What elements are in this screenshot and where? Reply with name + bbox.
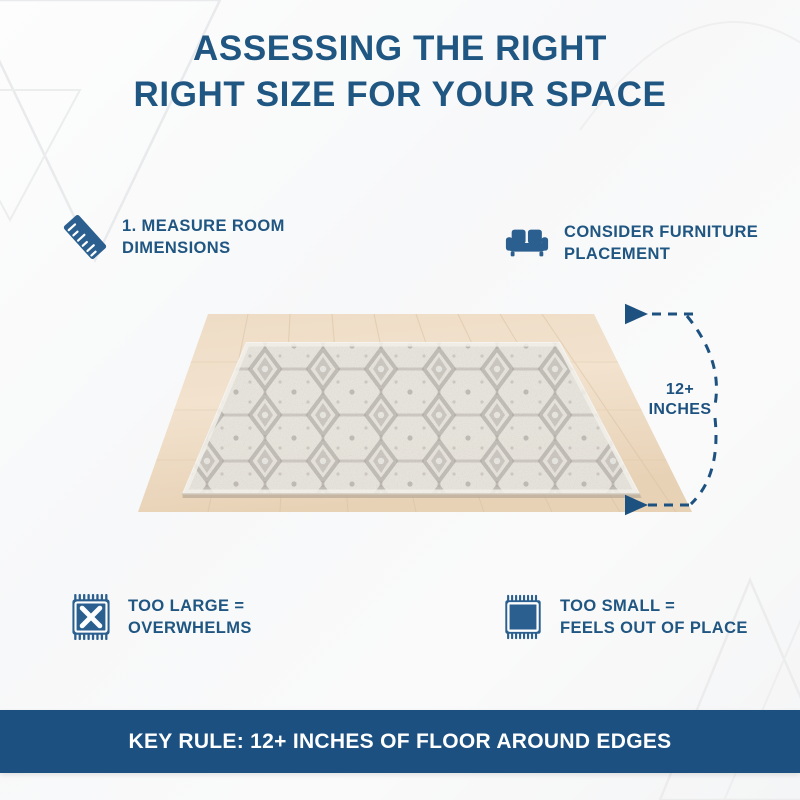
tip-consider-furniture-placement: CONSIDER FURNITURE PLACEMENT <box>504 218 758 268</box>
tip-too-small-line-2: FEELS OUT OF PLACE <box>560 617 748 639</box>
tip-too-large-overwhelms: TOO LARGE = OVERWHELMS <box>68 592 252 642</box>
tip-furniture-line-1: CONSIDER FURNITURE <box>564 221 758 243</box>
clearance-value: 12+ <box>625 380 735 400</box>
sofa-icon <box>504 218 550 268</box>
tip-measure-line-2: DIMENSIONS <box>122 237 285 259</box>
tip-too-small-line-1: TOO SMALL = <box>560 595 748 617</box>
tip-measure-line-1: 1. MEASURE ROOM <box>122 215 285 237</box>
clearance-unit: INCHES <box>625 400 735 420</box>
tip-furniture-label: CONSIDER FURNITURE PLACEMENT <box>564 218 758 265</box>
infographic-canvas: ASSESSING THE RIGHT RIGHT SIZE FOR YOUR … <box>0 0 800 800</box>
tip-too-small-label: TOO SMALL = FEELS OUT OF PLACE <box>560 592 748 639</box>
key-rule-text: KEY RULE: 12+ INCHES OF FLOOR AROUND EDG… <box>129 730 672 754</box>
clearance-callout: 12+ INCHES <box>625 300 745 520</box>
rug-x-icon <box>68 592 114 642</box>
clearance-callout-label: 12+ INCHES <box>625 380 735 420</box>
tip-too-large-line-1: TOO LARGE = <box>128 595 252 617</box>
tip-measure-label: 1. MEASURE ROOM DIMENSIONS <box>122 212 285 259</box>
tip-too-small-feels-out-of-place: TOO SMALL = FEELS OUT OF PLACE <box>500 592 748 642</box>
rug-small-icon <box>500 592 546 642</box>
tip-furniture-line-2: PLACEMENT <box>564 243 758 265</box>
title-line-2: RIGHT SIZE FOR YOUR SPACE <box>0 72 800 118</box>
tip-measure-room-dimensions: 1. MEASURE ROOM DIMENSIONS <box>62 212 285 262</box>
page-title: ASSESSING THE RIGHT RIGHT SIZE FOR YOUR … <box>0 26 800 118</box>
ruler-icon <box>62 212 108 262</box>
tip-too-large-line-2: OVERWHELMS <box>128 617 252 639</box>
tip-too-large-label: TOO LARGE = OVERWHELMS <box>128 592 252 639</box>
key-rule-banner: KEY RULE: 12+ INCHES OF FLOOR AROUND EDG… <box>0 710 800 773</box>
title-line-1: ASSESSING THE RIGHT <box>0 26 800 72</box>
